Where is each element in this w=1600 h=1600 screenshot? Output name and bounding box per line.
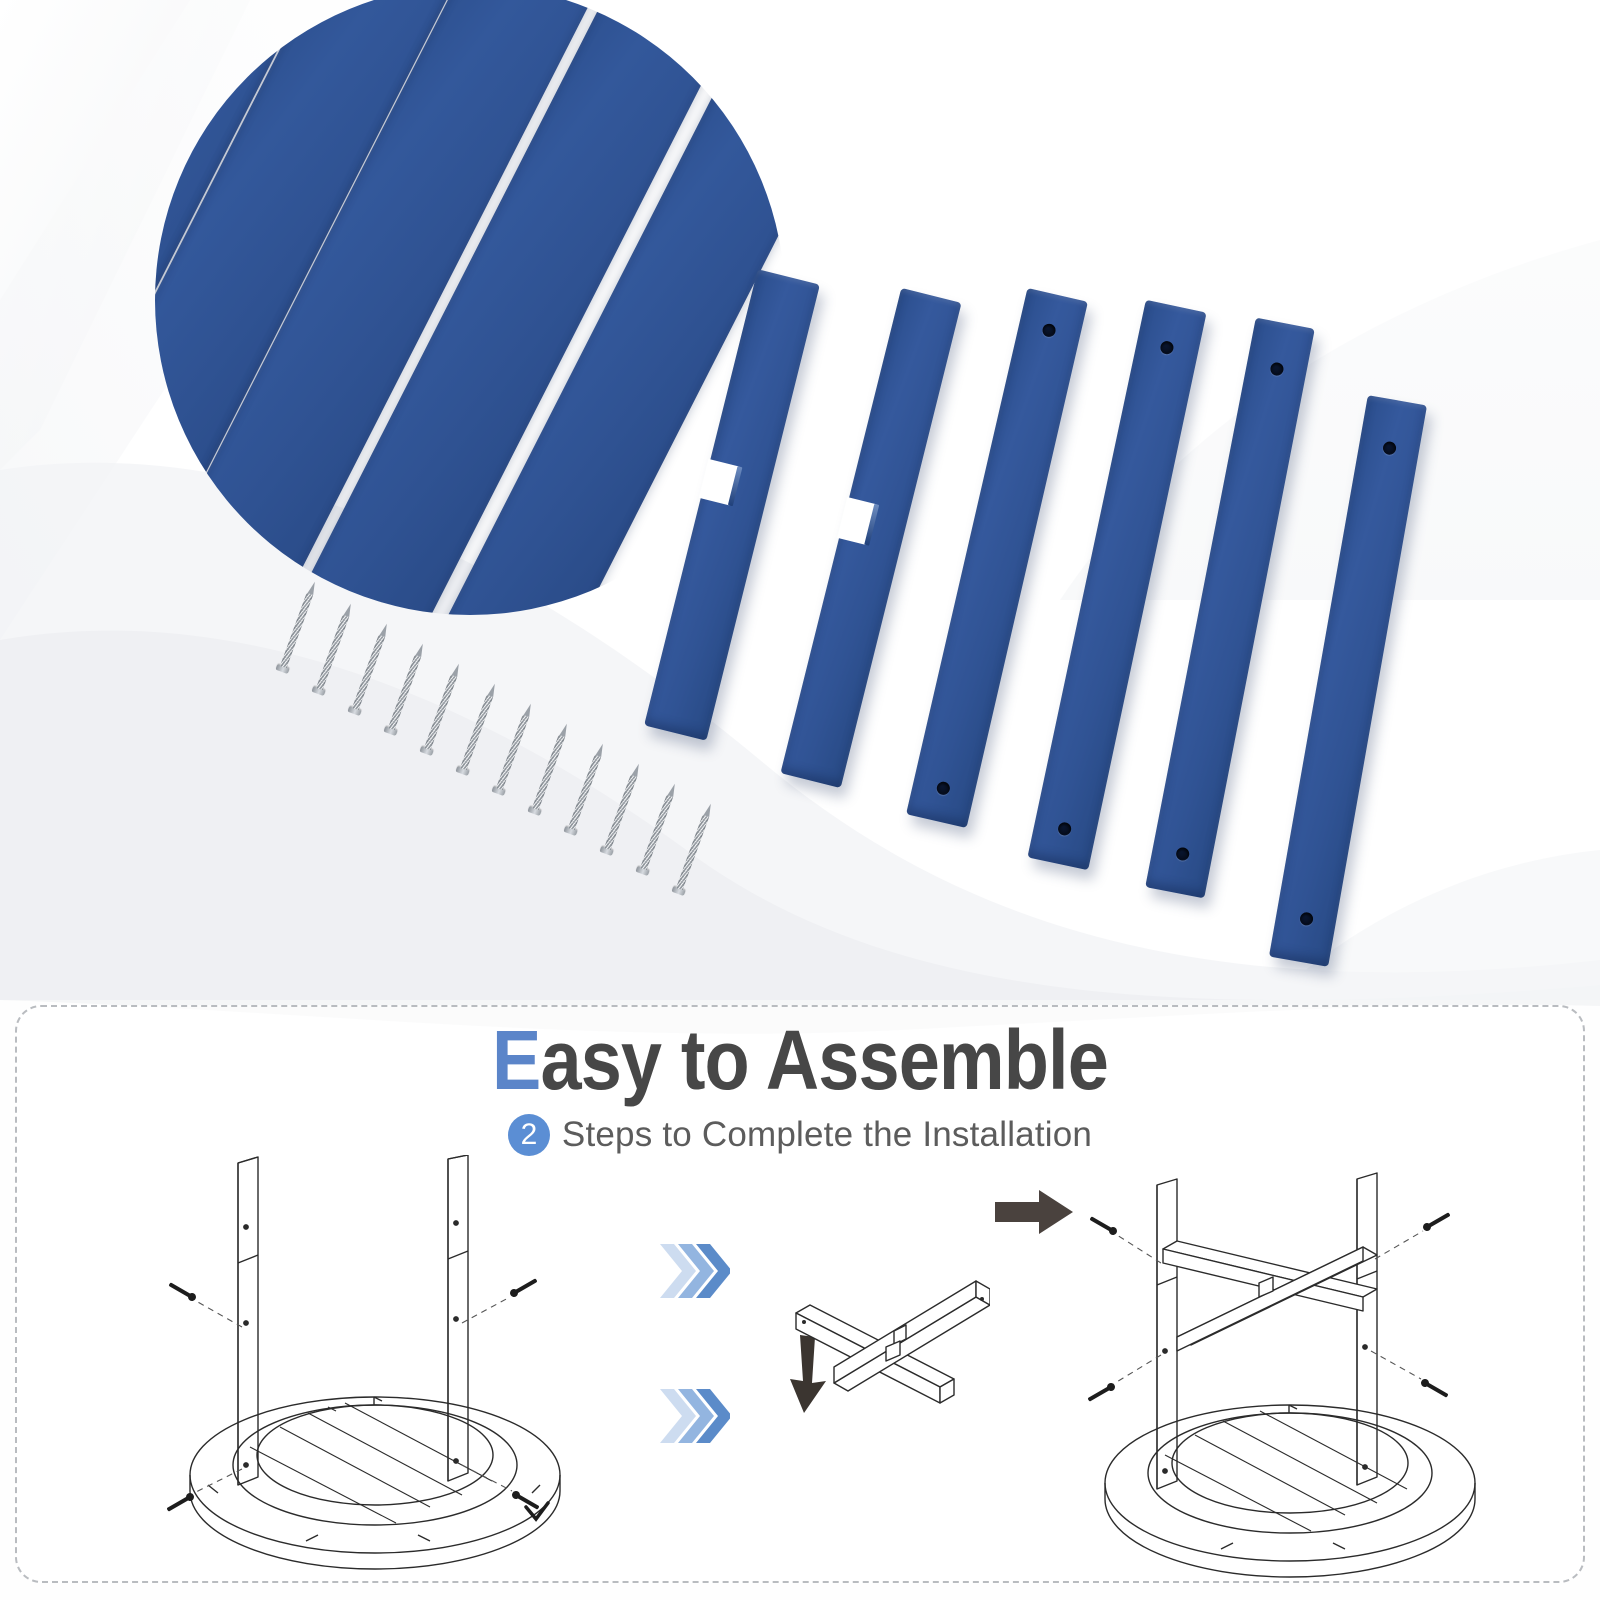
screw-hole: [1041, 323, 1057, 339]
chevron-arrow-group-top: [658, 1240, 730, 1307]
subheading: 2 Steps to Complete the Installation: [0, 1114, 1600, 1156]
screw-hole: [1299, 911, 1314, 926]
title-rest: asy to Assemble: [540, 1013, 1107, 1107]
parts-layout-photo: [0, 0, 1600, 1000]
panel-heading-block: Easy to Assemble 2 Steps to Complete the…: [0, 1012, 1600, 1156]
screw-hole: [936, 781, 952, 797]
step-count-badge: 2: [508, 1114, 550, 1156]
subheading-text: Steps to Complete the Installation: [562, 1115, 1092, 1155]
screw-hole: [1159, 340, 1174, 355]
screw-hole: [1175, 846, 1190, 861]
screw-hole: [1269, 361, 1284, 376]
diagram-step-1-attach-legs: [130, 1155, 600, 1575]
title-lead-letter: E: [492, 1013, 540, 1107]
page-title: Easy to Assemble: [96, 1012, 1504, 1108]
screw-hole: [1382, 441, 1397, 456]
diagram-step-2-attach-brace: [1045, 1165, 1515, 1580]
diagram-cross-lap-joint: [790, 1255, 990, 1415]
screw-hole: [1057, 821, 1072, 836]
plank-leg-4: [1269, 395, 1427, 967]
screw-set: [250, 650, 710, 950]
chevron-arrow-group-bottom: [658, 1385, 730, 1452]
